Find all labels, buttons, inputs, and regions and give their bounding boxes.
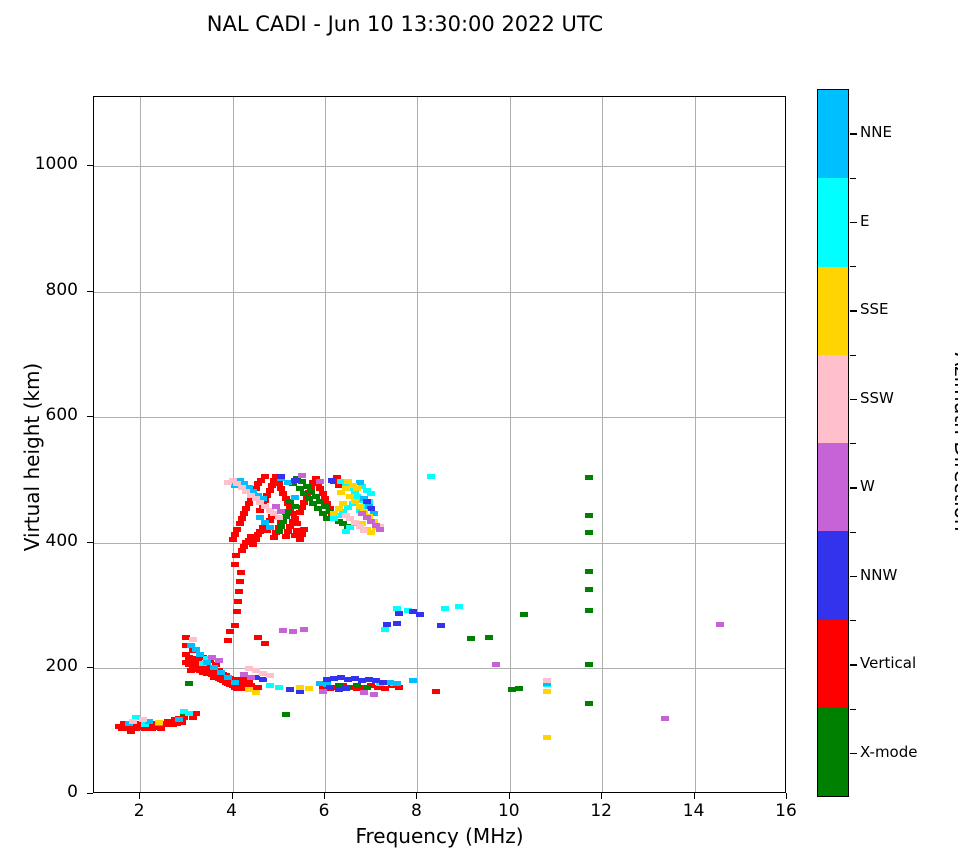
data-point xyxy=(485,635,493,640)
data-point xyxy=(247,675,255,680)
data-point xyxy=(492,662,500,667)
colorbar-boundary-tick xyxy=(850,443,856,444)
colorbar-label-w: W xyxy=(860,477,875,495)
x-tick-label: 2 xyxy=(109,801,169,821)
data-point xyxy=(319,689,327,694)
colorbar-label-ssw: SSW xyxy=(860,389,894,407)
data-point xyxy=(175,717,183,722)
x-tick-label: 4 xyxy=(202,801,262,821)
data-point xyxy=(585,475,593,480)
data-point xyxy=(289,519,297,524)
data-point xyxy=(296,685,304,690)
data-point xyxy=(432,689,440,694)
colorbar-label-e: E xyxy=(860,212,869,230)
data-point xyxy=(515,686,523,691)
data-point xyxy=(381,627,389,632)
colorbar[interactable] xyxy=(817,89,849,797)
x-tick-label: 16 xyxy=(756,801,816,821)
y-tick xyxy=(87,291,93,292)
y-tick-label: 0 xyxy=(0,782,78,802)
data-point xyxy=(300,527,308,532)
x-tick-label: 8 xyxy=(386,801,446,821)
data-point xyxy=(236,579,244,584)
data-point xyxy=(437,623,445,628)
x-tick-label: 12 xyxy=(571,801,631,821)
data-point xyxy=(383,622,391,627)
data-point xyxy=(363,499,371,504)
data-point xyxy=(231,680,239,685)
data-point xyxy=(353,683,361,688)
data-point xyxy=(370,692,378,697)
y-tick xyxy=(87,165,93,166)
data-point xyxy=(291,478,299,483)
colorbar-tick xyxy=(850,310,857,311)
colorbar-boundary-tick xyxy=(850,532,856,533)
data-point xyxy=(395,611,403,616)
y-tick xyxy=(87,416,93,417)
data-point xyxy=(286,687,294,692)
data-point xyxy=(305,686,313,691)
data-point xyxy=(249,542,257,547)
y-tick-label: 1000 xyxy=(0,154,78,174)
data-point xyxy=(224,480,232,485)
x-tick xyxy=(601,793,602,799)
data-point xyxy=(229,537,237,542)
data-point xyxy=(129,719,137,724)
colorbar-tick xyxy=(850,133,857,134)
data-point xyxy=(455,604,463,609)
colorbar-label-x-mode: X-mode xyxy=(860,743,917,761)
x-tick xyxy=(139,793,140,799)
data-point xyxy=(296,510,304,515)
colorbar-segment-w[interactable] xyxy=(818,443,848,531)
x-tick xyxy=(324,793,325,799)
colorbar-segment-vertical[interactable] xyxy=(818,620,848,708)
x-tick xyxy=(694,793,695,799)
data-point xyxy=(360,528,368,533)
x-tick xyxy=(786,793,787,799)
data-point xyxy=(409,678,417,683)
data-point xyxy=(145,719,153,724)
data-point xyxy=(298,505,306,510)
data-point xyxy=(330,516,338,521)
colorbar-boundary-tick xyxy=(850,355,856,356)
colorbar-label-nnw: NNW xyxy=(860,566,897,584)
data-point xyxy=(215,658,223,663)
data-point xyxy=(585,608,593,613)
data-point xyxy=(252,537,260,542)
data-point xyxy=(393,621,401,626)
data-point xyxy=(266,683,274,688)
data-point xyxy=(291,495,299,500)
data-point xyxy=(231,562,239,567)
colorbar-segment-sse[interactable] xyxy=(818,267,848,355)
data-point xyxy=(661,716,669,721)
data-point xyxy=(543,678,551,683)
data-point xyxy=(254,635,262,640)
data-point xyxy=(342,529,350,534)
data-point xyxy=(282,712,290,717)
data-point xyxy=(367,491,375,496)
data-point xyxy=(261,641,269,646)
colorbar-boundary-tick xyxy=(850,178,856,179)
colorbar-tick xyxy=(850,753,857,754)
x-tick xyxy=(416,793,417,799)
data-point xyxy=(291,504,299,509)
y-axis-label: Virtual height (km) xyxy=(20,307,44,607)
data-point xyxy=(379,680,387,685)
data-point xyxy=(585,587,593,592)
colorbar-label-sse: SSE xyxy=(860,300,889,318)
data-point xyxy=(272,504,280,509)
colorbar-boundary-tick xyxy=(850,620,856,621)
data-point xyxy=(226,629,234,634)
x-tick-label: 14 xyxy=(664,801,724,821)
y-tick xyxy=(87,542,93,543)
x-tick-label: 10 xyxy=(479,801,539,821)
data-point xyxy=(192,647,200,652)
colorbar-segment-nne[interactable] xyxy=(818,90,848,178)
data-point xyxy=(543,735,551,740)
data-point xyxy=(237,570,245,575)
data-point xyxy=(356,480,364,485)
data-point xyxy=(441,606,449,611)
data-point xyxy=(266,525,274,530)
data-point xyxy=(328,478,336,483)
data-point xyxy=(196,652,204,657)
data-point xyxy=(252,690,260,695)
data-layer xyxy=(94,97,785,792)
data-point xyxy=(296,537,304,542)
data-point xyxy=(353,486,361,491)
data-point xyxy=(266,673,274,678)
data-point xyxy=(189,637,197,642)
colorbar-label-vertical: Vertical xyxy=(860,654,916,672)
data-point xyxy=(376,527,384,532)
data-point xyxy=(266,488,274,493)
data-point xyxy=(585,530,593,535)
data-point xyxy=(185,711,193,716)
data-point xyxy=(289,629,297,634)
data-point xyxy=(282,534,290,539)
plot-area xyxy=(93,96,786,793)
colorbar-tick xyxy=(850,399,857,400)
colorbar-boundary-tick xyxy=(850,266,856,267)
data-point xyxy=(185,681,193,686)
data-point xyxy=(467,636,475,641)
ionogram-figure: NAL CADI - Jun 10 13:30:00 2022 UTC 2468… xyxy=(0,0,958,857)
y-tick-label: 800 xyxy=(0,280,78,300)
data-point xyxy=(585,513,593,518)
data-point xyxy=(358,511,366,516)
data-point xyxy=(716,622,724,627)
x-tick xyxy=(232,793,233,799)
data-point xyxy=(416,612,424,617)
figure-title: NAL CADI - Jun 10 13:30:00 2022 UTC xyxy=(0,12,810,36)
data-point xyxy=(275,685,283,690)
data-point xyxy=(192,711,200,716)
data-point xyxy=(270,535,278,540)
colorbar-segment-nnw[interactable] xyxy=(818,531,848,619)
data-point xyxy=(234,599,242,604)
colorbar-segment-ssw[interactable] xyxy=(818,355,848,443)
colorbar-label-nne: NNE xyxy=(860,123,892,141)
x-axis-label: Frequency (MHz) xyxy=(93,824,786,848)
data-point xyxy=(224,638,232,643)
data-point xyxy=(585,662,593,667)
data-point xyxy=(231,623,239,628)
data-point xyxy=(277,474,285,479)
colorbar-boundary-tick xyxy=(850,709,856,710)
data-point xyxy=(326,685,334,690)
colorbar-tick xyxy=(850,487,857,488)
data-point xyxy=(275,529,283,534)
colorbar-tick xyxy=(850,576,857,577)
data-point xyxy=(520,612,528,617)
data-point xyxy=(261,474,269,479)
data-point xyxy=(232,553,240,558)
data-point xyxy=(277,509,285,514)
colorbar-segment-x-mode[interactable] xyxy=(818,708,848,796)
x-tick-label: 6 xyxy=(294,801,354,821)
data-point xyxy=(235,589,243,594)
data-point xyxy=(585,569,593,574)
data-point xyxy=(330,511,338,516)
data-point xyxy=(233,609,241,614)
colorbar-segment-e[interactable] xyxy=(818,178,848,266)
data-point xyxy=(139,717,147,722)
data-point xyxy=(279,628,287,633)
data-point xyxy=(543,689,551,694)
x-tick xyxy=(509,793,510,799)
data-point xyxy=(367,530,375,535)
data-point xyxy=(275,515,283,520)
colorbar-tick xyxy=(850,664,857,665)
y-tick-label: 200 xyxy=(0,656,78,676)
y-tick xyxy=(87,793,93,794)
data-point xyxy=(298,473,306,478)
data-point xyxy=(298,532,306,537)
data-point xyxy=(155,720,163,725)
data-point xyxy=(427,474,435,479)
data-point xyxy=(337,490,345,495)
data-point xyxy=(342,686,350,691)
data-point xyxy=(585,701,593,706)
data-point xyxy=(393,681,401,686)
data-point xyxy=(360,690,368,695)
data-point xyxy=(367,506,375,511)
y-tick xyxy=(87,667,93,668)
colorbar-label: Azimuth Direction xyxy=(950,292,958,592)
data-point xyxy=(300,627,308,632)
data-point xyxy=(316,479,324,484)
colorbar-tick xyxy=(850,222,857,223)
